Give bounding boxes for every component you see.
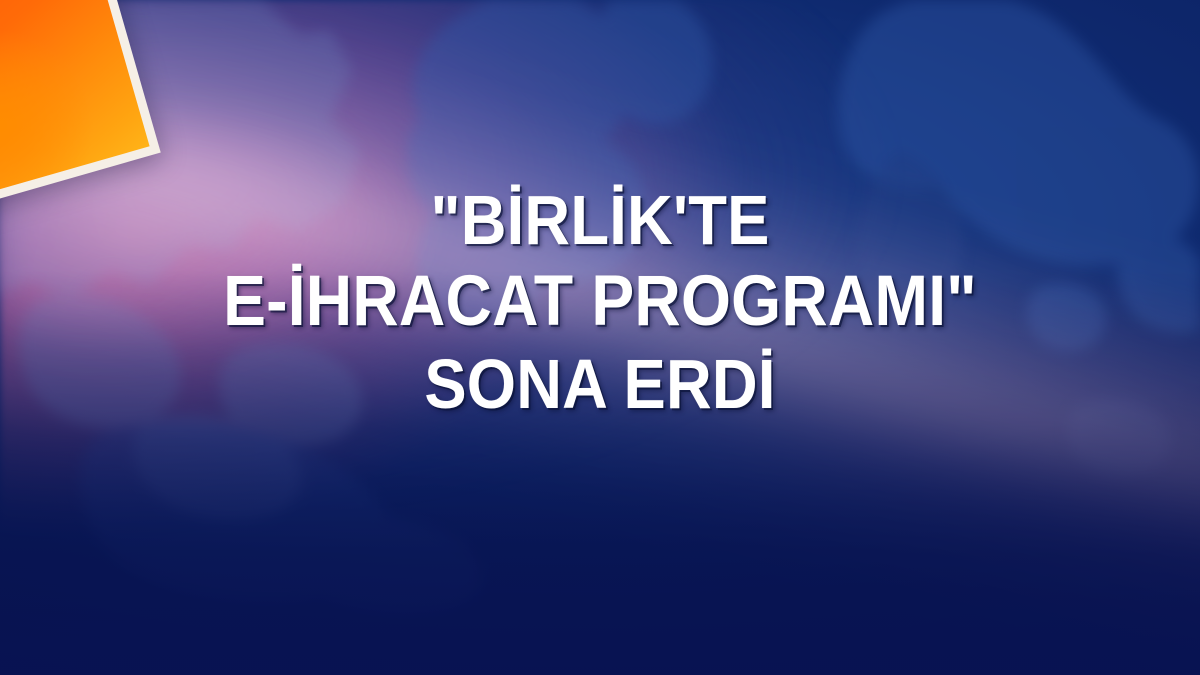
headline-line-2: E-İHRACAT PROGRAMI" [93,267,1107,337]
headline-block: "BİRLİK'TE E-İHRACAT PROGRAMI" SONA ERDİ [0,186,1200,419]
headline-line-3: SONA ERDİ [93,350,1107,419]
orange-corner-badge [0,0,161,210]
orange-badge-fill [0,0,150,199]
news-graphic-canvas: "BİRLİK'TE E-İHRACAT PROGRAMI" SONA ERDİ [0,0,1200,675]
headline-line-1: "BİRLİK'TE [93,186,1107,255]
